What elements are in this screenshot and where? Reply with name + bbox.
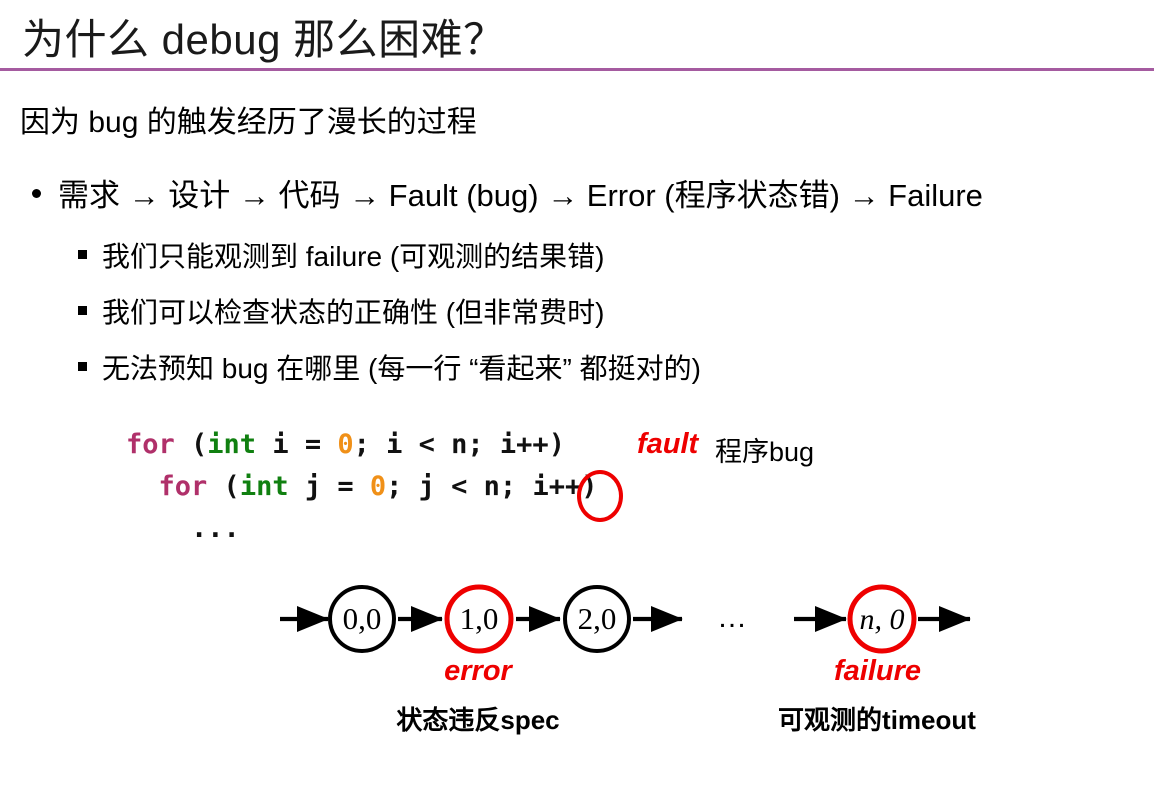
state-node-0-0-label: 0,0 [343,601,382,636]
lead-paragraph: 因为 bug 的触发经历了漫长的过程 [20,97,477,141]
diagram-gap-ellipsis: … [717,601,747,634]
code-line-3: ... [126,513,240,544]
bullet-level2-1: 我们只能观测到 failure (可观测的结果错) [78,235,604,275]
state-node-n-0-label: n, 0 [860,603,905,636]
failure-caption-sub: 可观测的timeout [762,700,992,737]
code-snippet: for (int i = 0; i < n; i++) for (int j =… [126,424,597,550]
code-number: 0 [370,471,386,502]
state-node-1-0-label: 1,0 [460,601,499,636]
code-text: ; i < n; i++) [354,429,565,460]
code-line-2: for (int j = 0; j < n; i++) [126,471,597,502]
bullet-square-icon [78,362,87,371]
code-line-1: for (int i = 0; i < n; i++) [126,429,565,460]
state-node-2-0-label: 2,0 [578,601,617,636]
bullet-level2-3: 无法预知 bug 在哪里 (每一行 “看起来” 都挺对的) [78,347,701,387]
page-title: 为什么 debug 那么困难？ [22,6,506,67]
fault-annotation-note: 程序bug [715,430,814,469]
bullet-square-icon [78,250,87,259]
code-type-int: int [240,471,289,502]
bullet-dot-icon [32,189,41,198]
code-text: i = [256,429,337,460]
code-indent [126,471,159,502]
bullet-level2-2: 我们可以检查状态的正确性 (但非常费时) [78,291,604,331]
bullet-level1: 需求 → 设计 → 代码 → Fault (bug) → Error (程序状态… [32,170,983,215]
bullet-level2-1-label: 我们只能观测到 failure (可观测的结果错) [102,235,604,275]
bullet-level2-3-label: 无法预知 bug 在哪里 (每一行 “看起来” 都挺对的) [102,347,701,387]
code-type-int: int [207,429,256,460]
code-keyword-for: for [159,471,208,502]
fault-annotation-label: fault [637,428,698,461]
code-text: ; j < n; i++) [386,471,597,502]
code-number: 0 [337,429,353,460]
failure-caption-label: failure [810,655,945,688]
error-caption-label: error [418,655,538,688]
code-keyword-for: for [126,429,175,460]
bullet-level2-2-label: 我们可以检查状态的正确性 (但非常费时) [102,291,604,331]
bullet-square-icon [78,306,87,315]
bullet-level1-label: 需求 → 设计 → 代码 → Fault (bug) → Error (程序状态… [58,170,983,215]
code-text: j = [289,471,370,502]
code-punct: ( [175,429,208,460]
code-punct: ( [207,471,240,502]
red-ellipse-highlight-icon [577,470,623,522]
error-caption-sub: 状态违反spec [383,700,573,737]
title-divider [0,68,1154,71]
